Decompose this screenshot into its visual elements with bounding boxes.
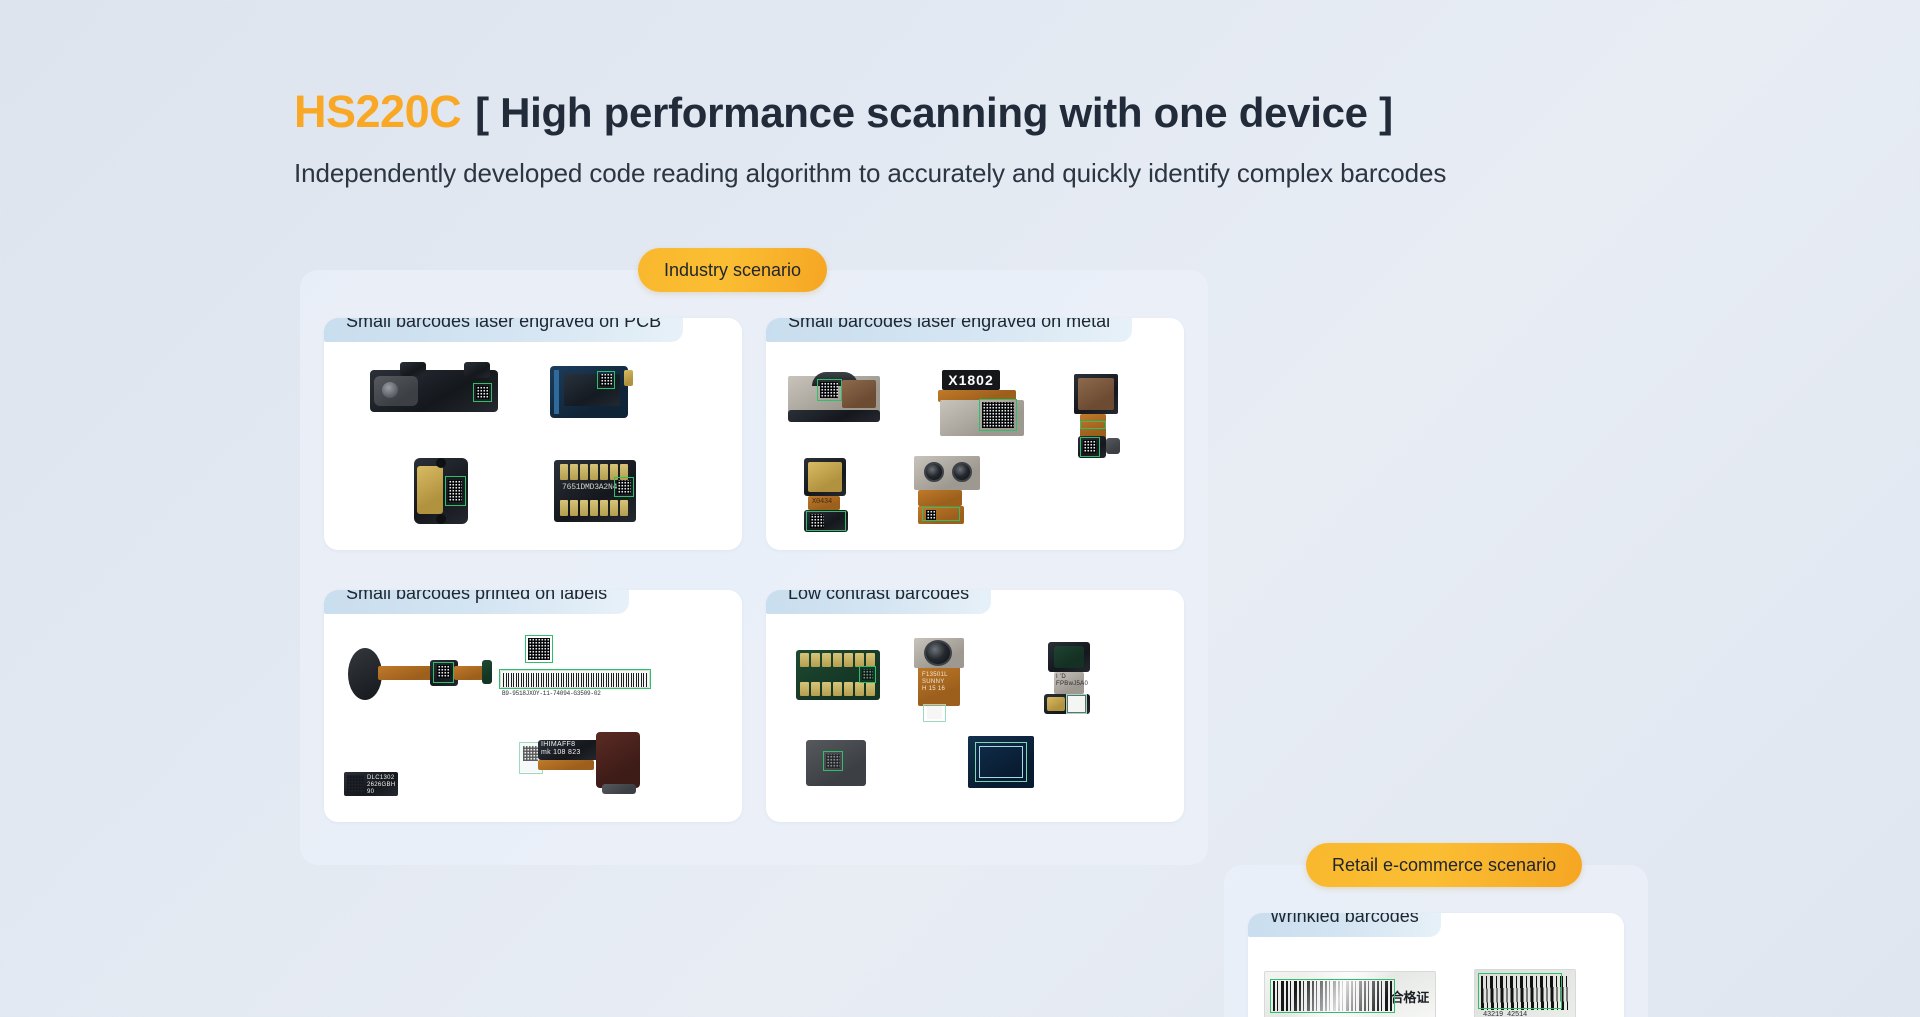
label-chip-line3: 90 xyxy=(367,789,374,795)
headline-text: [ High performance scanning with one dev… xyxy=(475,89,1393,137)
roi-box xyxy=(1270,979,1395,1013)
product-model: HS220C xyxy=(294,86,461,138)
lowcon-cam-line3: H 15 16 xyxy=(922,686,945,692)
card-labels-title: Small barcodes printed on labels xyxy=(346,590,607,604)
card-labels-header: Small barcodes printed on labels xyxy=(324,590,629,614)
card-lowcontrast-media: F13501L SUNNY H 15 16 I 'D FPBwJ5A0 xyxy=(766,624,1184,822)
lowcon-cam-line1: F13501L xyxy=(922,672,948,678)
badge-industry-scenario[interactable]: Industry scenario xyxy=(638,248,827,292)
card-pcb-media: 7651DMD3A2N4 xyxy=(324,352,742,550)
wrinkled-cn-text: 合格证 xyxy=(1391,987,1429,1006)
card-wrinkled-media: 合格证 43219 42514 xyxy=(1248,947,1624,1017)
card-lowcontrast[interactable]: F13501L SUNNY H 15 16 I 'D FPBwJ5A0 xyxy=(766,590,1184,822)
card-lowcontrast-title: Low contrast barcodes xyxy=(788,590,969,604)
page-title: HS220C [ High performance scanning with … xyxy=(294,86,1634,138)
card-pcb-title: Small barcodes laser engraved on PCB xyxy=(346,318,661,332)
page-subtitle: Independently developed code reading alg… xyxy=(294,158,1634,189)
card-pcb-header: Small barcodes laser engraved on PCB xyxy=(324,318,683,342)
card-wrinkled-header: Wrinkled barcodes xyxy=(1248,913,1441,937)
card-metal[interactable]: X1802 X0434 xyxy=(766,318,1184,550)
card-labels-media: B9-9518JXOY-11-74094-G3509-02 DLC1302 26… xyxy=(324,624,742,822)
roi-box xyxy=(473,383,492,402)
page-header: HS220C [ High performance scanning with … xyxy=(294,86,1634,189)
lowcon-sensor-line2: FPBwJ5A0 xyxy=(1056,681,1088,687)
card-pcb[interactable]: 7651DMD3A2N4 Small barcodes laser engrav… xyxy=(324,318,742,550)
label-flex-line2: mk 108 823 xyxy=(541,749,581,756)
card-metal-header: Small barcodes laser engraved on metal xyxy=(766,318,1132,342)
metal-tag-x1802: X1802 xyxy=(942,370,1000,390)
panel-retail: Retail e-commerce scenario 合格证 43219 425… xyxy=(1224,865,1648,1017)
card-wrinkled-title: Wrinkled barcodes xyxy=(1270,913,1419,927)
badge-retail-scenario[interactable]: Retail e-commerce scenario xyxy=(1306,843,1582,887)
label-flex-line1: IHIMAFF8 xyxy=(541,741,575,748)
card-metal-title: Small barcodes laser engraved on metal xyxy=(788,318,1110,332)
label-chip-line2: 2626GBH xyxy=(367,782,395,788)
lowcon-cam-line2: SUNNY xyxy=(922,679,945,685)
card-labels[interactable]: B9-9518JXOY-11-74094-G3509-02 DLC1302 26… xyxy=(324,590,742,822)
panel-industry: Industry scenario xyxy=(300,270,1208,865)
wrinkled-digits: 43219 42514 xyxy=(1483,1011,1527,1017)
card-lowcontrast-header: Low contrast barcodes xyxy=(766,590,991,614)
card-metal-media: X1802 X0434 xyxy=(766,352,1184,550)
label-chip-line1: DLC1302 xyxy=(367,775,394,781)
label-barcode-digits: B9-9518JXOY-11-74094-G3509-02 xyxy=(502,690,601,697)
metal-flex-code: X0434 xyxy=(812,498,832,506)
card-wrinkled[interactable]: 合格证 43219 42514 Wrinkled barcodes xyxy=(1248,913,1624,1017)
pcb-gold-code: 7651DMD3A2N4 xyxy=(562,483,617,492)
lowcon-sensor-line1: I 'D xyxy=(1056,674,1066,680)
